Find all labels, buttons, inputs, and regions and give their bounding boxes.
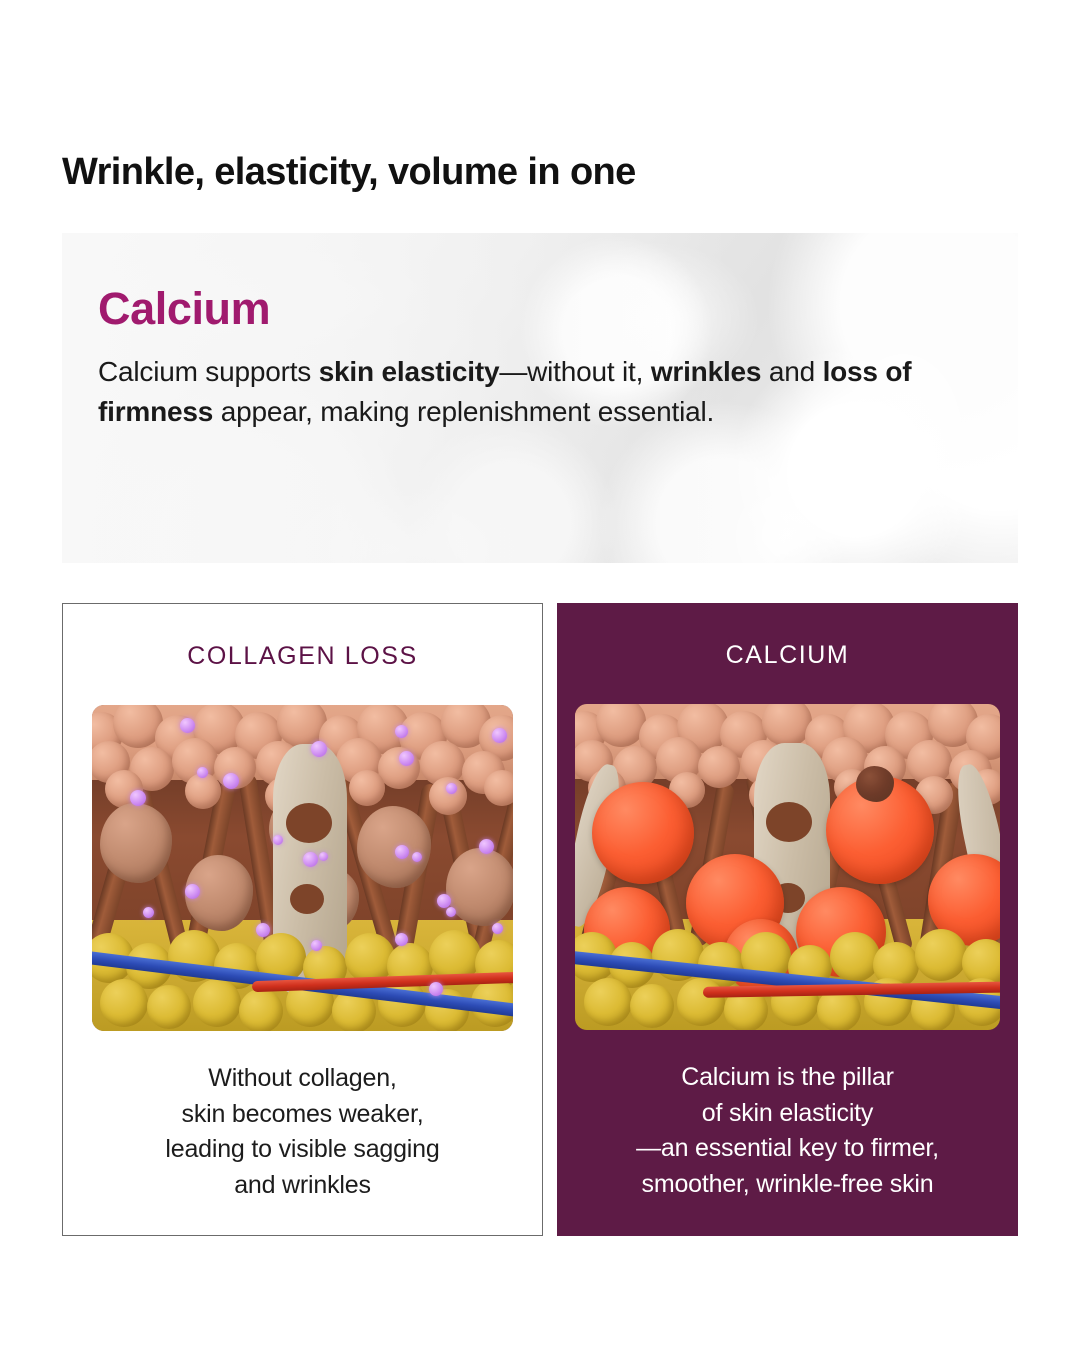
banner-text-bold2: wrinkles xyxy=(651,356,761,387)
comparison-cards: COLLAGEN LOSS xyxy=(62,603,1018,1236)
skin-diagram-calcium xyxy=(575,704,1000,1030)
card-heading-calcium: CALCIUM xyxy=(726,641,850,670)
banner-body-text: Calcium supports skin elasticity—without… xyxy=(98,352,938,432)
calcium-banner: Calcium Calcium supports skin elasticity… xyxy=(62,233,1018,563)
banner-text-part4: appear, making replenishment essential. xyxy=(213,396,714,427)
card-caption-collagen-loss: Without collagen,skin becomes weaker,lea… xyxy=(165,1061,439,1203)
card-calcium: CALCIUM xyxy=(557,603,1018,1236)
banner-text-bold1: skin elasticity xyxy=(319,356,500,387)
banner-text-part1: Calcium supports xyxy=(98,356,319,387)
page-title: Wrinkle, elasticity, volume in one xyxy=(62,151,636,194)
banner-text-part2: —without it, xyxy=(499,356,650,387)
card-collagen-loss: COLLAGEN LOSS xyxy=(62,603,543,1236)
banner-text-part3: and xyxy=(761,356,822,387)
calcium-particles-group xyxy=(92,705,513,1031)
banner-title: Calcium xyxy=(98,285,978,332)
banner-content: Calcium Calcium supports skin elasticity… xyxy=(98,285,978,432)
skin-diagram-collagen-loss xyxy=(92,705,513,1031)
card-heading-collagen-loss: COLLAGEN LOSS xyxy=(187,642,418,671)
infographic-page: Wrinkle, elasticity, volume in one Calci… xyxy=(0,0,1080,1350)
card-caption-calcium: Calcium is the pillarof skin elasticity—… xyxy=(636,1060,939,1202)
